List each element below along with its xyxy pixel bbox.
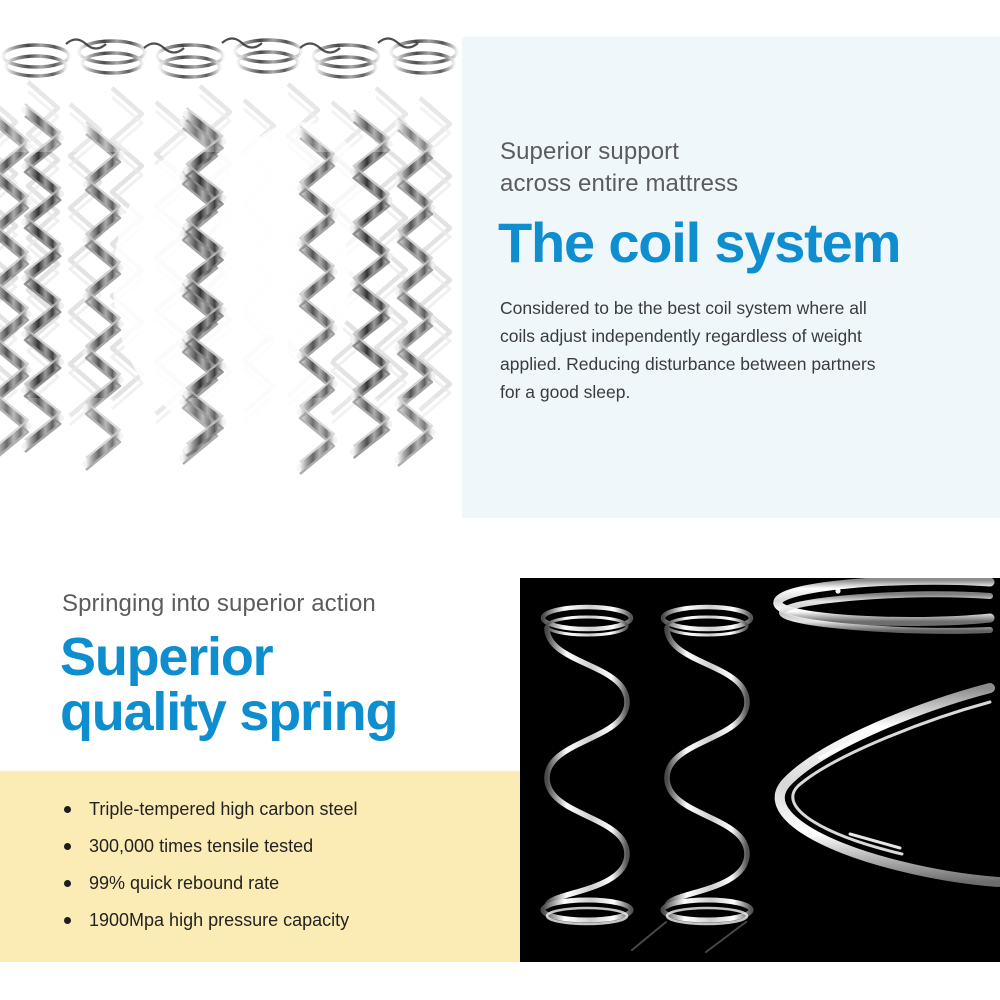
coil-system-headline: The coil system bbox=[498, 215, 988, 271]
feature-label: 300,000 times tensile tested bbox=[89, 836, 313, 856]
list-item: 99% quick rebound rate bbox=[60, 874, 357, 892]
quality-spring-copy: Springing into superior action Superior … bbox=[0, 518, 520, 962]
spring-photo-black bbox=[520, 578, 1000, 962]
list-item: Triple-tempered high carbon steel bbox=[60, 800, 357, 818]
quality-spring-headline: Superior quality spring bbox=[60, 630, 510, 740]
quality-spring-headline-line1: Superior bbox=[60, 630, 510, 685]
coil-springs-photo bbox=[0, 32, 462, 518]
bullet-icon bbox=[64, 880, 71, 887]
coil-system-body-text: Considered to be the best coil system wh… bbox=[500, 294, 900, 406]
feature-label: Triple-tempered high carbon steel bbox=[89, 799, 357, 819]
feature-label: 99% quick rebound rate bbox=[89, 873, 279, 893]
product-infographic: Superior support across entire mattress … bbox=[0, 0, 1000, 1000]
list-item: 1900Mpa high pressure capacity bbox=[60, 911, 357, 929]
feature-label: 1900Mpa high pressure capacity bbox=[89, 910, 349, 930]
coil-system-eyebrow-line2: across entire mattress bbox=[500, 168, 940, 200]
coil-system-info-panel: Superior support across entire mattress … bbox=[462, 37, 1000, 518]
quality-spring-eyebrow: Springing into superior action bbox=[62, 590, 376, 618]
quality-spring-headline-line2: quality spring bbox=[60, 685, 510, 740]
coil-system-eyebrow: Superior support across entire mattress bbox=[500, 136, 940, 201]
bullet-icon bbox=[64, 843, 71, 850]
bullet-icon bbox=[64, 806, 71, 813]
coil-system-body: Considered to be the best coil system wh… bbox=[500, 294, 900, 406]
coil-system-eyebrow-line1: Superior support bbox=[500, 136, 940, 168]
feature-panel: Triple-tempered high carbon steel 300,00… bbox=[0, 771, 520, 962]
list-item: 300,000 times tensile tested bbox=[60, 837, 357, 855]
quality-spring-section: Springing into superior action Superior … bbox=[0, 518, 1000, 1000]
coil-system-section: Superior support across entire mattress … bbox=[0, 0, 1000, 518]
bullet-icon bbox=[64, 917, 71, 924]
feature-list: Triple-tempered high carbon steel 300,00… bbox=[60, 800, 357, 948]
